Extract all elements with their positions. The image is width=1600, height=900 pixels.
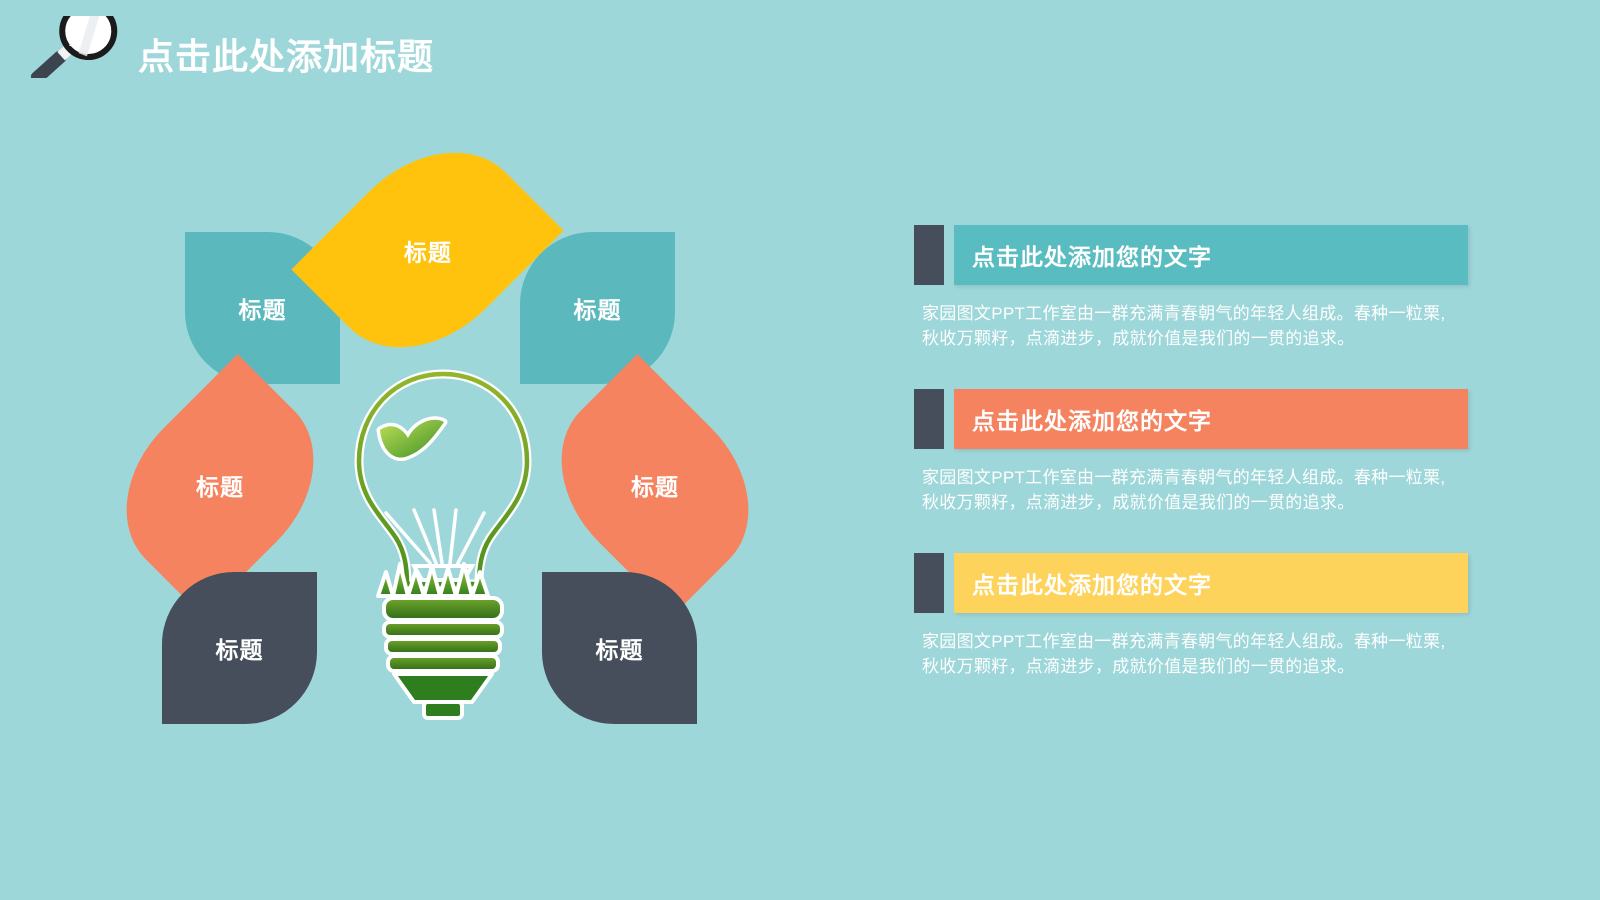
banner-label: 点击此处添加您的文字 (954, 402, 1212, 436)
petal-label: 标题 (596, 631, 644, 665)
banner-label: 点击此处添加您的文字 (954, 566, 1212, 600)
petal-label: 标题 (404, 233, 452, 267)
block-body-text: 家园图文PPT工作室由一群充满青春朝气的年轻人组成。春种一粒栗,秋收万颗籽，点滴… (922, 465, 1462, 515)
banner-tab (914, 553, 944, 613)
banner-tab (914, 389, 944, 449)
petal-bottom-right[interactable]: 标题 (542, 572, 697, 724)
content-block: 点击此处添加您的文字 家园图文PPT工作室由一群充满青春朝气的年轻人组成。春种一… (908, 389, 1468, 515)
banner-yellow[interactable]: 点击此处添加您的文字 (954, 553, 1468, 613)
banner-tab (914, 225, 944, 285)
banner-teal[interactable]: 点击此处添加您的文字 (954, 225, 1468, 285)
magnifier-icon (14, 16, 124, 78)
petal-bottom-left[interactable]: 标题 (162, 572, 317, 724)
block-body-text: 家园图文PPT工作室由一群充满青春朝气的年轻人组成。春种一粒栗,秋收万颗籽，点滴… (922, 629, 1462, 679)
content-block: 点击此处添加您的文字 家园图文PPT工作室由一群充满青春朝气的年轻人组成。春种一… (908, 553, 1468, 679)
banner-label: 点击此处添加您的文字 (954, 238, 1212, 272)
block-body-text: 家园图文PPT工作室由一群充满青春朝气的年轻人组成。春种一粒栗,秋收万颗籽，点滴… (922, 301, 1462, 351)
petal-diagram: 标题 标题 标题 标题 标题 标题 标题 (100, 120, 740, 760)
content-block: 点击此处添加您的文字 家园图文PPT工作室由一群充满青春朝气的年轻人组成。春种一… (908, 225, 1468, 351)
petal-label: 标题 (574, 291, 622, 325)
petal-label: 标题 (631, 468, 679, 502)
petal-label: 标题 (196, 468, 244, 502)
page-title: 点击此处添加标题 (138, 28, 434, 80)
eco-lightbulb-icon (338, 358, 548, 738)
petal-label: 标题 (216, 631, 264, 665)
content-panel: 点击此处添加您的文字 家园图文PPT工作室由一群充满青春朝气的年轻人组成。春种一… (908, 225, 1468, 679)
petal-label: 标题 (239, 291, 287, 325)
slide-header: 点击此处添加标题 (0, 0, 1600, 100)
banner-salmon[interactable]: 点击此处添加您的文字 (954, 389, 1468, 449)
